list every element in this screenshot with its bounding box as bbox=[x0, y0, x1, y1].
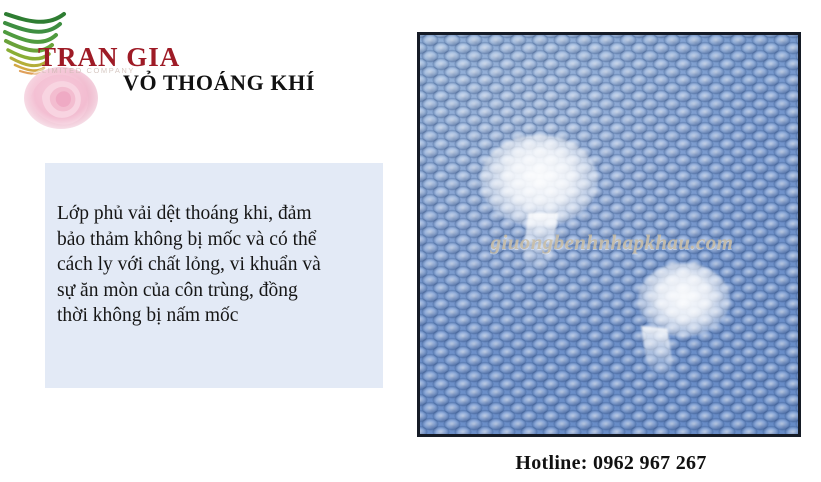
description-text: Lớp phủ vải dệt thoáng khi, đảm bảo thảm… bbox=[57, 201, 377, 329]
hotline-text: Hotline: 0962 967 267 bbox=[421, 452, 801, 475]
poster-canvas: TRAN GIA LIMITED COMPANY VỎ THOÁNG KHÍ L… bbox=[0, 0, 821, 482]
brand-subtitle: LIMITED COMPANY bbox=[42, 66, 135, 75]
page-title: VỎ THOÁNG KHÍ bbox=[123, 70, 315, 96]
photo-watermark: giuongbenhnhapkhau.com bbox=[426, 230, 798, 255]
product-photo: giuongbenhnhapkhau.com bbox=[417, 32, 801, 437]
brand-logo: TRAN GIA LIMITED COMPANY bbox=[0, 4, 400, 134]
fabric-background: giuongbenhnhapkhau.com bbox=[420, 35, 798, 434]
